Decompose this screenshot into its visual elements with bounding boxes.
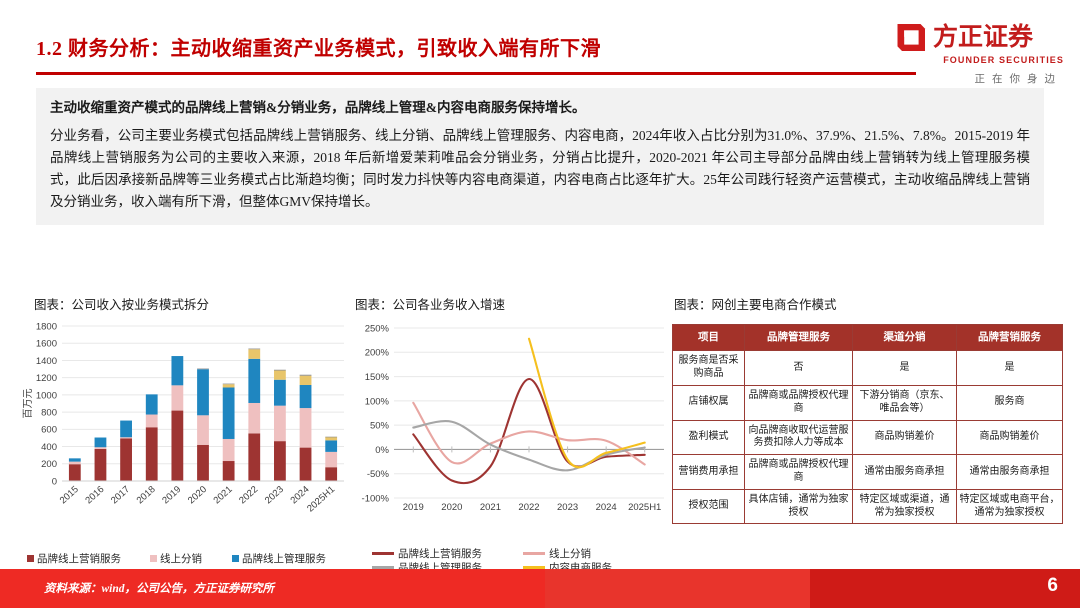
table-row-header: 盈利模式 <box>673 420 745 455</box>
table-cell: 是 <box>957 351 1063 386</box>
svg-text:400: 400 <box>41 442 57 453</box>
analysis-paragraph: 分业务看，公司主要业务模式包括品牌线上营销服务、线上分销、品牌线上管理服务、内容… <box>50 125 1030 212</box>
figure3-title: 图表：网创主要电商合作模式 <box>674 294 837 313</box>
table-cell: 否 <box>745 351 853 386</box>
svg-text:百万元: 百万元 <box>22 389 34 419</box>
table-cell: 品牌商或品牌授权代理商 <box>745 455 853 490</box>
svg-text:2019: 2019 <box>403 502 424 513</box>
svg-text:-100%: -100% <box>362 493 390 504</box>
svg-text:800: 800 <box>41 408 57 419</box>
table-cell: 商品购销差价 <box>957 420 1063 455</box>
legend-label-distribution: 线上分销 <box>160 551 202 566</box>
table-cell: 特定区域或电商平台，通常为独家授权 <box>957 489 1063 524</box>
line-legend-label-distribution: 线上分销 <box>549 546 591 561</box>
revenue-growth-svg: -100%-50%0%50%100%150%200%250%2019202020… <box>352 318 672 540</box>
svg-text:1000: 1000 <box>36 390 57 401</box>
slide-root: 1.2 财务分析：主动收缩重资产业务模式，引致收入端有所下滑 方正证券 FOUN… <box>0 0 1080 608</box>
table-row: 店铺权属品牌商或品牌授权代理商下游分销商（京东、唯品会等）服务商 <box>673 386 1063 421</box>
legend-swatch-management-icon <box>232 555 239 562</box>
svg-text:200: 200 <box>41 459 57 470</box>
table-body: 服务商是否采购商品否是是店铺权属品牌商或品牌授权代理商下游分销商（京东、唯品会等… <box>673 351 1063 524</box>
svg-text:2021: 2021 <box>212 484 235 506</box>
svg-text:2021: 2021 <box>480 502 501 513</box>
legend-swatch-distribution-icon <box>150 555 157 562</box>
line-legend-item-distribution: 线上分销 <box>523 546 591 561</box>
table-cell: 具体店铺，通常为独家授权 <box>745 489 853 524</box>
company-logo: 方正证券 FOUNDER SECURITIES 正在你身边 <box>896 22 1064 80</box>
bar-legend-item-management: 品牌线上管理服务 <box>232 551 326 566</box>
svg-text:2023: 2023 <box>263 484 286 506</box>
bar-legend-item-marketing: 品牌线上营销服务 <box>27 551 121 566</box>
legend-swatch-marketing-icon <box>27 555 34 562</box>
source-note: 资料来源：wind，公司公告，方正证券研究所 <box>44 580 274 596</box>
table-row-header: 服务商是否采购商品 <box>673 351 745 386</box>
svg-text:1800: 1800 <box>36 321 57 332</box>
line-legend-label-marketing: 品牌线上营销服务 <box>398 546 482 561</box>
svg-text:250%: 250% <box>365 323 390 334</box>
footer-stripe-light <box>545 569 810 608</box>
svg-text:0: 0 <box>52 476 57 487</box>
table-row-header: 店铺权属 <box>673 386 745 421</box>
table-row: 营销费用承担品牌商或品牌授权代理商通常由服务商承担通常由服务商承担 <box>673 455 1063 490</box>
svg-text:1200: 1200 <box>36 373 57 384</box>
table-col-header-0: 项目 <box>673 325 745 351</box>
page-title: 1.2 财务分析：主动收缩重资产业务模式，引致收入端有所下滑 <box>36 32 601 61</box>
figure1-title: 图表：公司收入按业务模式拆分 <box>34 294 209 313</box>
svg-text:2024: 2024 <box>596 502 617 513</box>
table-cell: 通常由服务商承担 <box>957 455 1063 490</box>
legend-line-marketing-icon <box>372 552 394 555</box>
svg-text:2017: 2017 <box>109 484 132 506</box>
svg-text:2022: 2022 <box>518 502 539 513</box>
logo-english-name: FOUNDER SECURITIES <box>896 55 1064 65</box>
legend-label-management: 品牌线上管理服务 <box>242 551 326 566</box>
slide-footer: 资料来源：wind，公司公告，方正证券研究所 6 <box>0 569 1080 608</box>
logo-slogan: 正在你身边 <box>896 71 1064 86</box>
title-divider <box>36 72 916 75</box>
svg-text:2020: 2020 <box>186 484 209 506</box>
svg-text:150%: 150% <box>365 372 390 383</box>
revenue-breakdown-svg: 020040060080010001200140016001800百万元2015… <box>20 318 350 533</box>
svg-text:2016: 2016 <box>83 484 106 506</box>
svg-text:200%: 200% <box>365 348 390 359</box>
svg-text:100%: 100% <box>365 396 390 407</box>
svg-text:2018: 2018 <box>135 484 158 506</box>
svg-text:2023: 2023 <box>557 502 578 513</box>
table-header-row: 项目 品牌管理服务 渠道分销 品牌营销服务 <box>673 325 1063 351</box>
figure2-title: 图表：公司各业务收入增速 <box>355 294 505 313</box>
table-row: 盈利模式向品牌商收取代运营服务费扣除人力等成本商品购销差价商品购销差价 <box>673 420 1063 455</box>
table-col-header-3: 品牌营销服务 <box>957 325 1063 351</box>
svg-text:2015: 2015 <box>58 484 81 506</box>
svg-text:600: 600 <box>41 425 57 436</box>
table-col-header-1: 品牌管理服务 <box>745 325 853 351</box>
table-row: 服务商是否采购商品否是是 <box>673 351 1063 386</box>
table-row-header: 授权范围 <box>673 489 745 524</box>
svg-text:2025H1: 2025H1 <box>305 484 337 514</box>
table-row: 授权范围具体店铺，通常为独家授权特定区域或渠道，通常为独家授权特定区域或电商平台… <box>673 489 1063 524</box>
table-col-header-2: 渠道分销 <box>853 325 957 351</box>
analysis-text-block: 主动收缩重资产模式的品牌线上营销&分销业务，品牌线上管理&内容电商服务保持增长。… <box>36 88 1044 225</box>
slide-header: 1.2 财务分析：主动收缩重资产业务模式，引致收入端有所下滑 方正证券 FOUN… <box>0 0 1080 84</box>
svg-text:2020: 2020 <box>441 502 462 513</box>
legend-line-distribution-icon <box>523 552 545 555</box>
revenue-breakdown-chart: 020040060080010001200140016001800百万元2015… <box>20 318 350 533</box>
legend-label-marketing: 品牌线上营销服务 <box>37 551 121 566</box>
founder-logo-mark-icon <box>896 22 927 53</box>
table-cell: 商品购销差价 <box>853 420 957 455</box>
table-cell: 是 <box>853 351 957 386</box>
lead-statement: 主动收缩重资产模式的品牌线上营销&分销业务，品牌线上管理&内容电商服务保持增长。 <box>50 98 1030 118</box>
svg-text:1400: 1400 <box>36 356 57 367</box>
table-cell: 下游分销商（京东、唯品会等） <box>853 386 957 421</box>
bar-legend-item-distribution: 线上分销 <box>150 551 202 566</box>
logo-chinese-name: 方正证券 <box>933 25 1033 50</box>
svg-text:-50%: -50% <box>367 469 390 480</box>
svg-text:2022: 2022 <box>237 484 260 506</box>
svg-text:2019: 2019 <box>160 484 183 506</box>
line-legend-item-marketing: 品牌线上营销服务 <box>372 546 482 561</box>
table-cell: 通常由服务商承担 <box>853 455 957 490</box>
svg-text:0%: 0% <box>375 445 389 456</box>
svg-text:50%: 50% <box>370 421 390 432</box>
table-cell: 服务商 <box>957 386 1063 421</box>
table-cell: 品牌商或品牌授权代理商 <box>745 386 853 421</box>
table-row-header: 营销费用承担 <box>673 455 745 490</box>
svg-text:1600: 1600 <box>36 339 57 350</box>
table-cell: 特定区域或渠道，通常为独家授权 <box>853 489 957 524</box>
table-cell: 向品牌商收取代运营服务费扣除人力等成本 <box>745 420 853 455</box>
footer-stripe-dark <box>810 569 1080 608</box>
svg-text:2025H1: 2025H1 <box>628 502 661 513</box>
revenue-growth-chart: -100%-50%0%50%100%150%200%250%2019202020… <box>352 318 672 540</box>
page-number: 6 <box>1047 575 1058 597</box>
ecommerce-cooperation-table: 项目 品牌管理服务 渠道分销 品牌营销服务 服务商是否采购商品否是是店铺权属品牌… <box>672 324 1063 524</box>
